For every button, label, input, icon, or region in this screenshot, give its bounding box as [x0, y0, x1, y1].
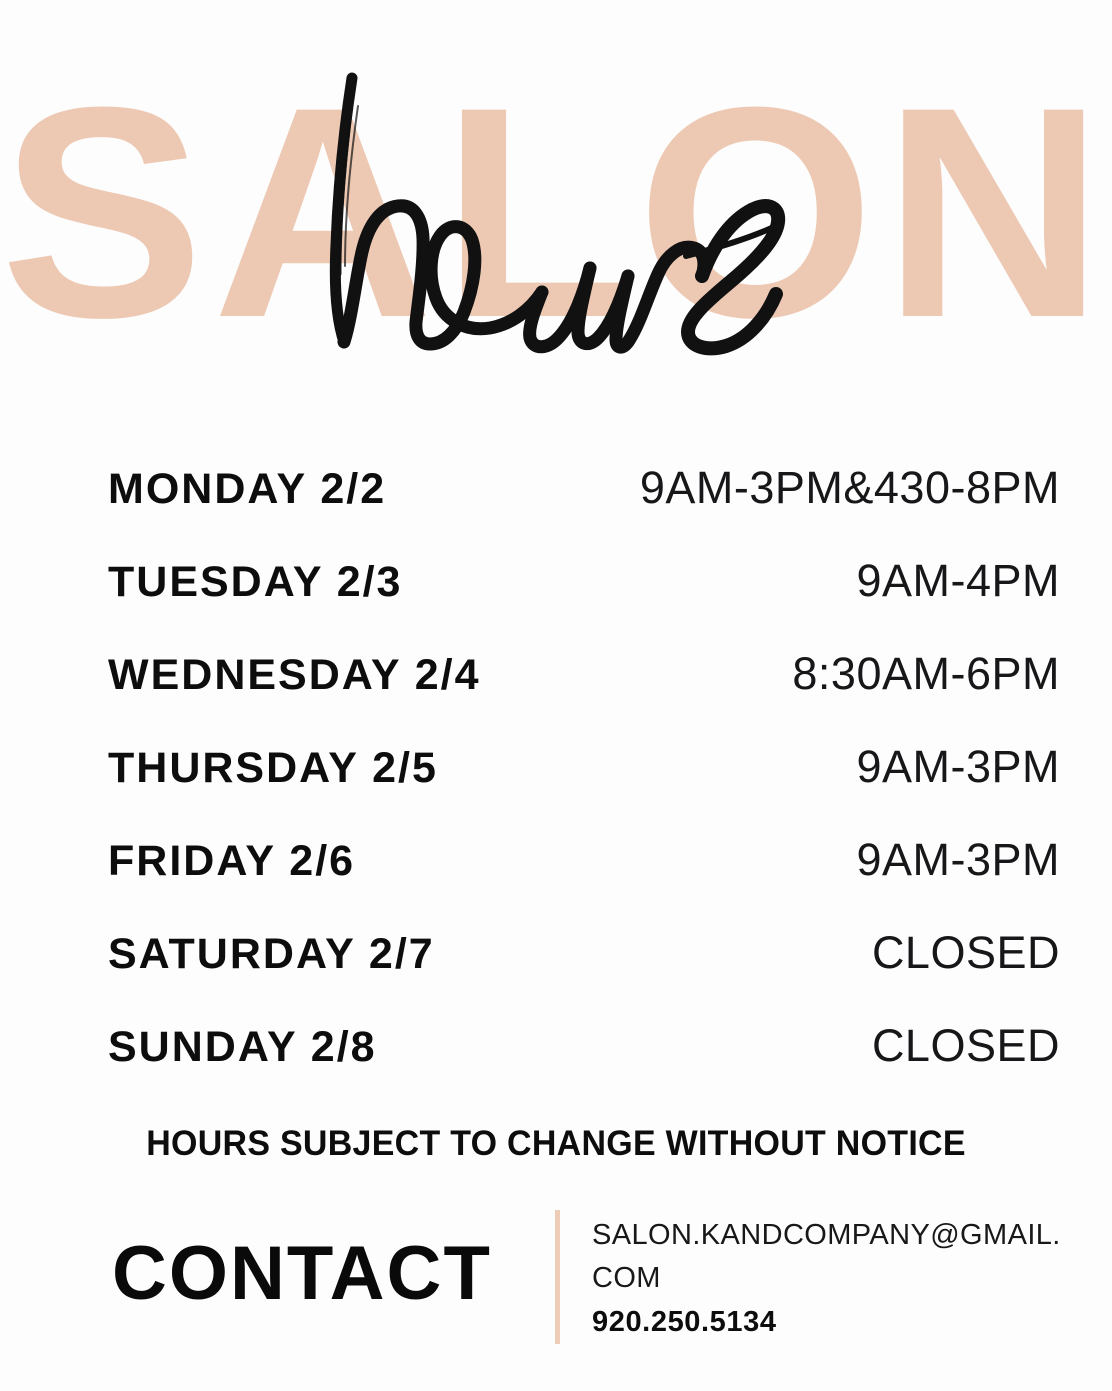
- day-label: THURSDAY 2/5: [108, 744, 438, 793]
- contact-divider: [555, 1210, 560, 1344]
- day-label: FRIDAY 2/6: [108, 837, 355, 886]
- hours-row: WEDNESDAY 2/4 8:30AM-6PM: [108, 648, 1060, 741]
- hours-list: MONDAY 2/2 9AM-3PM&430-8PM TUESDAY 2/3 9…: [108, 462, 1060, 1113]
- salon-hours-poster: SALON: [0, 0, 1112, 1391]
- poster-header: SALON: [0, 0, 1112, 400]
- contact-email[interactable]: SALON.KANDCOMPANY@GMAIL.COM: [592, 1214, 1072, 1300]
- time-label: CLOSED: [872, 1020, 1060, 1072]
- contact-phone[interactable]: 920.250.5134: [592, 1306, 1072, 1339]
- time-label: 9AM-3PM: [856, 834, 1060, 886]
- day-label: SATURDAY 2/7: [108, 930, 435, 979]
- salon-backdrop-word: SALON: [0, 82, 1112, 342]
- disclaimer-text: HOURS SUBJECT TO CHANGE WITHOUT NOTICE: [17, 1124, 1096, 1164]
- time-label: CLOSED: [872, 927, 1060, 979]
- hours-row: FRIDAY 2/6 9AM-3PM: [108, 834, 1060, 927]
- day-label: WEDNESDAY 2/4: [108, 651, 481, 700]
- hours-row: MONDAY 2/2 9AM-3PM&430-8PM: [108, 462, 1060, 555]
- contact-heading: CONTACT: [112, 1234, 492, 1314]
- time-label: 9AM-3PM: [856, 741, 1060, 793]
- hours-row: SUNDAY 2/8 CLOSED: [108, 1020, 1060, 1113]
- hours-row: SATURDAY 2/7 CLOSED: [108, 927, 1060, 1020]
- time-label: 9AM-4PM: [856, 555, 1060, 607]
- day-label: MONDAY 2/2: [108, 465, 386, 514]
- day-label: TUESDAY 2/3: [108, 558, 402, 607]
- contact-details: SALON.KANDCOMPANY@GMAIL.COM 920.250.5134: [592, 1214, 1072, 1339]
- day-label: SUNDAY 2/8: [108, 1023, 377, 1072]
- time-label: 9AM-3PM&430-8PM: [640, 462, 1060, 514]
- contact-section: CONTACT SALON.KANDCOMPANY@GMAIL.COM 920.…: [0, 1204, 1112, 1364]
- time-label: 8:30AM-6PM: [792, 648, 1060, 700]
- hours-row: TUESDAY 2/3 9AM-4PM: [108, 555, 1060, 648]
- hours-row: THURSDAY 2/5 9AM-3PM: [108, 741, 1060, 834]
